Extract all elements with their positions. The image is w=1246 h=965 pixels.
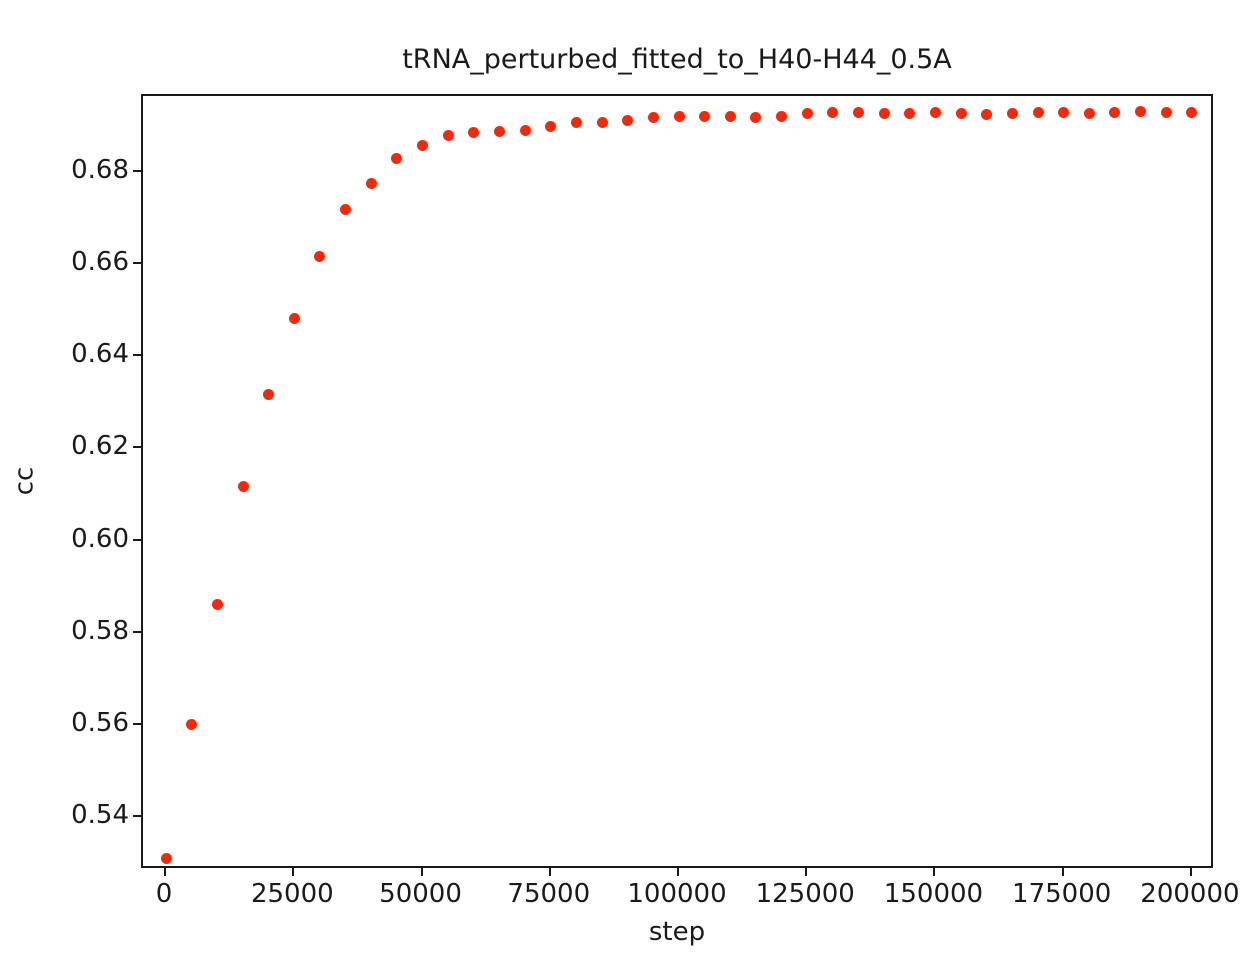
x-axis-tick-mark	[164, 868, 166, 876]
data-point	[391, 153, 402, 164]
data-point	[699, 111, 710, 122]
x-axis-tick-label: 75000	[507, 879, 590, 909]
x-axis-tick-mark	[933, 868, 935, 876]
y-axis-tick-mark	[133, 262, 141, 264]
y-axis-tick-label: 0.60	[71, 524, 129, 554]
x-axis-label: step	[141, 917, 1213, 947]
data-point	[443, 130, 454, 141]
y-axis-tick-mark	[133, 446, 141, 448]
data-point	[1109, 107, 1120, 118]
data-point	[648, 112, 659, 123]
x-axis-tick-mark	[677, 868, 679, 876]
data-point	[725, 111, 736, 122]
y-axis-tick-mark	[133, 631, 141, 633]
data-point	[186, 719, 197, 730]
y-axis-tick-mark	[133, 815, 141, 817]
data-point	[622, 115, 633, 126]
data-point	[494, 126, 505, 137]
scatter-points-layer	[143, 96, 1211, 866]
y-axis-tick-mark	[133, 539, 141, 541]
data-point	[314, 251, 325, 262]
data-point	[1161, 107, 1172, 118]
data-point	[1007, 108, 1018, 119]
x-axis-tick-label: 50000	[379, 879, 462, 909]
x-axis-tick-mark	[292, 868, 294, 876]
data-point	[468, 127, 479, 138]
y-axis-tick-label: 0.68	[71, 155, 129, 185]
data-point	[674, 111, 685, 122]
chart-title: tRNA_perturbed_fitted_to_H40-H44_0.5A	[141, 44, 1213, 75]
data-point	[520, 125, 531, 136]
x-axis-tick-label: 175000	[1012, 879, 1111, 909]
y-axis-tick-label: 0.56	[71, 708, 129, 738]
data-point	[956, 108, 967, 119]
data-point	[571, 117, 582, 128]
data-point	[1058, 107, 1069, 118]
x-axis-tick-mark	[421, 868, 423, 876]
chart-figure: tRNA_perturbed_fitted_to_H40-H44_0.5A 02…	[0, 0, 1246, 965]
x-axis-tick-mark	[1062, 868, 1064, 876]
data-point	[827, 107, 838, 118]
x-axis-tick-label: 0	[156, 879, 173, 909]
data-point	[904, 108, 915, 119]
y-axis-tick-label: 0.66	[71, 247, 129, 277]
data-point	[212, 599, 223, 610]
data-point	[1135, 106, 1146, 117]
data-point	[545, 121, 556, 132]
data-point	[930, 107, 941, 118]
data-point	[289, 313, 300, 324]
data-point	[238, 481, 249, 492]
data-point	[776, 111, 787, 122]
x-axis-tick-label: 150000	[884, 879, 983, 909]
data-point	[853, 107, 864, 118]
data-point	[981, 109, 992, 120]
x-axis-tick-mark	[1190, 868, 1192, 876]
data-point	[879, 108, 890, 119]
y-axis-tick-mark	[133, 723, 141, 725]
x-axis-tick-mark	[805, 868, 807, 876]
data-point	[263, 389, 274, 400]
data-point	[802, 108, 813, 119]
plot-area	[141, 94, 1213, 868]
x-axis-tick-label: 125000	[756, 879, 855, 909]
data-point	[597, 117, 608, 128]
x-axis-tick-label: 25000	[251, 879, 334, 909]
data-point	[1084, 108, 1095, 119]
x-axis-tick-label: 200000	[1140, 879, 1239, 909]
x-axis-tick-mark	[549, 868, 551, 876]
data-point	[417, 140, 428, 151]
y-axis-label: cc	[9, 467, 39, 496]
y-axis-tick-mark	[133, 354, 141, 356]
y-axis-tick-mark	[133, 170, 141, 172]
data-point	[1033, 107, 1044, 118]
y-axis-tick-label: 0.54	[71, 800, 129, 830]
data-point	[750, 112, 761, 123]
x-axis-tick-label: 100000	[627, 879, 726, 909]
y-axis-tick-label: 0.58	[71, 616, 129, 646]
y-axis-tick-label: 0.64	[71, 339, 129, 369]
data-point	[161, 853, 172, 864]
data-point	[340, 204, 351, 215]
y-axis-tick-label: 0.62	[71, 431, 129, 461]
data-point	[366, 178, 377, 189]
data-point	[1186, 107, 1197, 118]
